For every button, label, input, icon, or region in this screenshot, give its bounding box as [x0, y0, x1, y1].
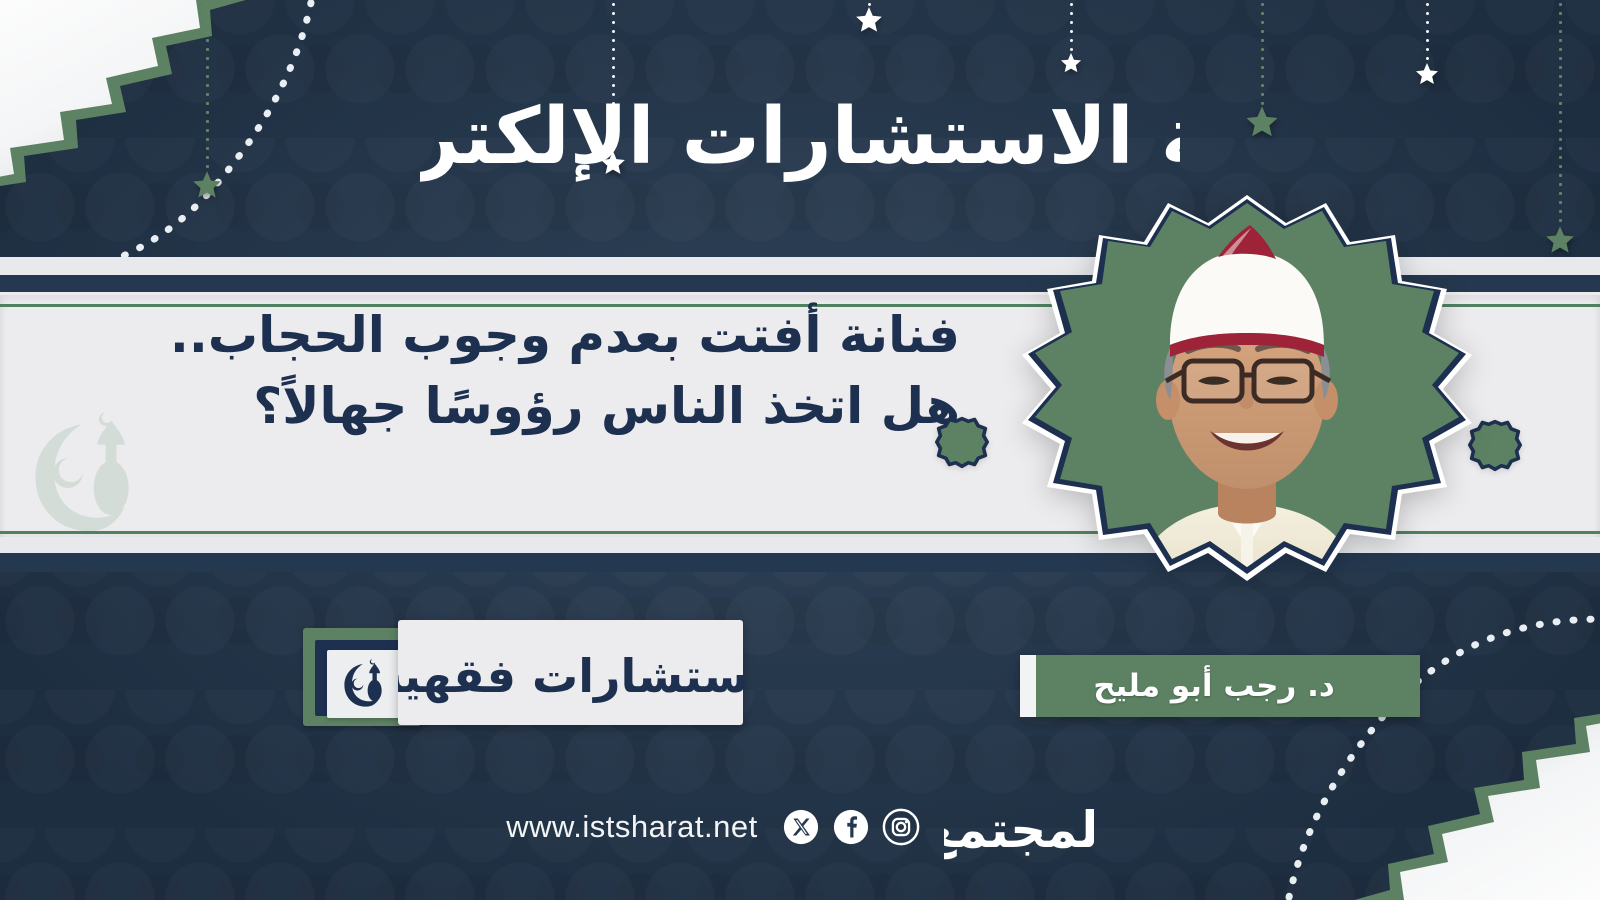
- brand-logo-almujtama: المجتمع: [944, 785, 1094, 869]
- author-name: د. رجب أبو مليح: [1093, 668, 1347, 704]
- hanging-star-7: [1545, 0, 1575, 255]
- headline-line-1: فنانة أفتت بعدم وجوب الحجاب..: [120, 300, 960, 371]
- category-badge-label: استشارات فقهية: [398, 649, 743, 703]
- author-name-plate: د. رجب أبو مليح: [1020, 655, 1420, 717]
- instagram-icon[interactable]: [882, 808, 920, 846]
- site-title-calligraphy: بوابة الاستشارات الإلكترونية: [420, 58, 1180, 208]
- hanging-star-1: [192, 0, 222, 200]
- facebook-icon[interactable]: [832, 808, 870, 846]
- hanging-star-5: [1245, 0, 1279, 139]
- scalloped-dot-left-icon: [935, 415, 989, 474]
- hanging-star-3: [855, 0, 883, 34]
- headline-line-2: هل اتخذ الناس رؤوسًا جهالاً؟: [120, 371, 960, 442]
- footer: المجتمع: [0, 782, 1600, 872]
- author-name-plate-tab: [1020, 655, 1036, 717]
- site-title-text: بوابة الاستشارات الإلكترونية: [420, 92, 1180, 183]
- author-portrait: [1022, 195, 1472, 615]
- category-badge-plate: استشارات فقهية: [398, 620, 743, 725]
- category-badge-logo: [327, 650, 405, 718]
- headline-text: فنانة أفتت بعدم وجوب الحجاب.. هل اتخذ ال…: [120, 300, 960, 442]
- poster-canvas: بوابة الاستشارات الإلكترونية فنانة أفتت …: [0, 0, 1600, 900]
- social-links: [782, 808, 920, 846]
- brand-logo-text: المجتمع: [944, 801, 1094, 860]
- website-url[interactable]: www.istsharat.net: [506, 809, 757, 845]
- mosque-crescent-logo-icon: [339, 657, 393, 711]
- x-twitter-icon[interactable]: [782, 808, 820, 846]
- scalloped-dot-right-icon: [1468, 418, 1522, 477]
- hanging-star-6: [1415, 0, 1439, 86]
